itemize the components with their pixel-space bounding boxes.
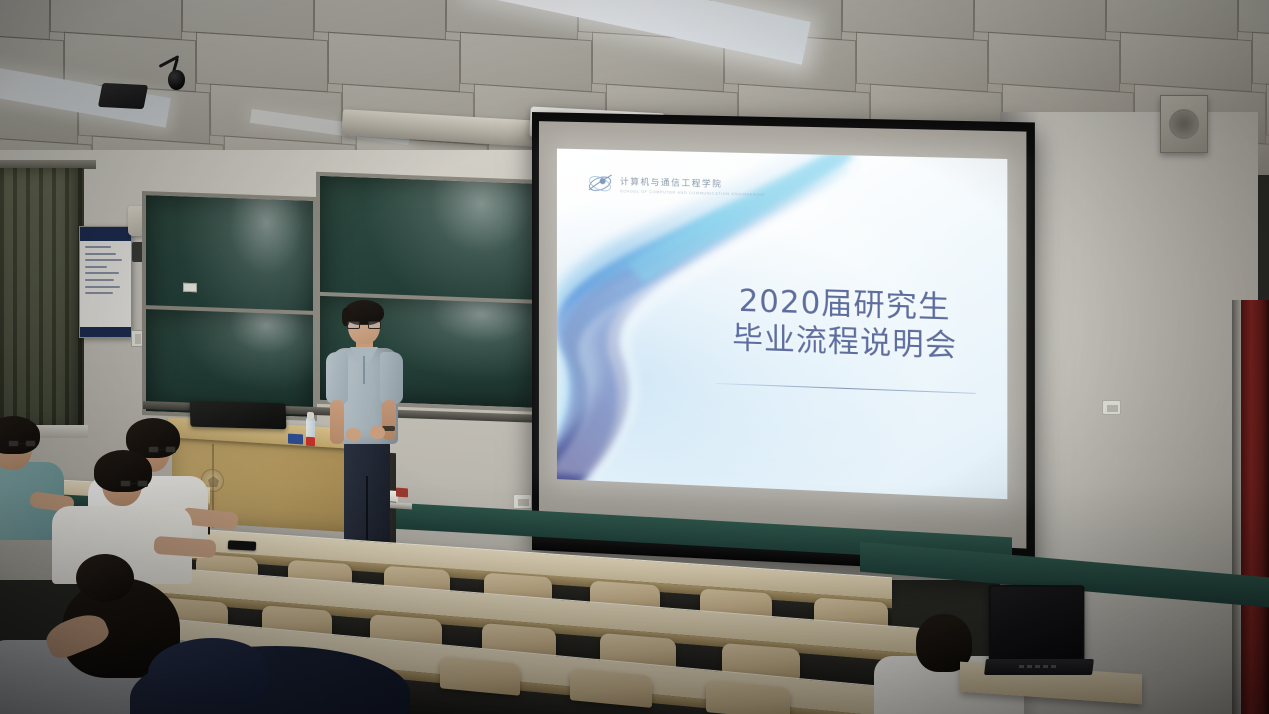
presenter — [322, 300, 412, 550]
student-glasses-icon — [8, 440, 36, 447]
mouse-pad[interactable] — [98, 83, 148, 109]
slide-title: 2020届研究生 毕业流程说明会 — [710, 282, 980, 367]
poster-text-line — [85, 259, 122, 261]
poster-text-line — [85, 286, 120, 288]
poster-text-line — [85, 253, 116, 255]
window-curtain[interactable] — [0, 168, 84, 430]
projection-screen: 计算机与通信工程学院 SCHOOL OF COMPUTER AND COMMUN… — [532, 112, 1035, 575]
classroom-rules-poster — [79, 226, 132, 338]
swoosh-emblem-icon — [587, 171, 613, 196]
water-bottle-cap — [307, 412, 314, 419]
ceiling-camera-icon — [160, 58, 200, 94]
student-navy-front — [130, 636, 410, 714]
presenter-hand-left — [346, 428, 361, 441]
lecture-hall-photo: 计算机与通信工程学院 SCHOOL OF COMPUTER AND COMMUN… — [0, 0, 1269, 714]
mobile-phone[interactable] — [228, 540, 256, 550]
poster-text-line — [85, 246, 111, 248]
laptop-screen[interactable] — [989, 585, 1085, 662]
presenter-sleeve-left — [326, 352, 348, 404]
presenter-trouser-seam — [366, 476, 368, 542]
poster-footer — [80, 327, 131, 337]
wall-speaker-icon — [1160, 95, 1208, 153]
ceiling-tile — [0, 0, 50, 40]
poster-text-line — [85, 266, 107, 268]
poster-text-lines — [80, 241, 131, 302]
poster-text-line — [85, 279, 114, 281]
presenter-sleeve-right — [380, 352, 403, 404]
power-outlet[interactable] — [1102, 400, 1121, 415]
blue-box-item[interactable] — [288, 434, 303, 445]
door-edge — [1241, 300, 1269, 714]
presenter-placket — [363, 356, 365, 384]
water-bottle[interactable] — [306, 418, 315, 447]
projected-slide: 计算机与通信工程学院 SCHOOL OF COMPUTER AND COMMUN… — [557, 149, 1007, 500]
laptop[interactable] — [985, 585, 1093, 690]
slide-logo: 计算机与通信工程学院 SCHOOL OF COMPUTER AND COMMUN… — [587, 171, 765, 200]
presenter-glasses-icon — [347, 321, 381, 329]
hair-bun — [76, 554, 134, 602]
poster-header — [80, 227, 131, 241]
slide-logo-org-cn: 计算机与通信工程学院 — [620, 175, 765, 191]
student-glasses-icon — [120, 480, 148, 487]
power-outlet[interactable] — [513, 494, 532, 509]
presenter-arm-left — [330, 400, 344, 444]
poster-text-line — [85, 272, 119, 274]
laptop-keyboard[interactable] — [1019, 665, 1059, 668]
chalk-eraser[interactable] — [183, 283, 197, 292]
poster-text-line — [85, 292, 113, 294]
presenter-hand-right — [370, 426, 385, 439]
